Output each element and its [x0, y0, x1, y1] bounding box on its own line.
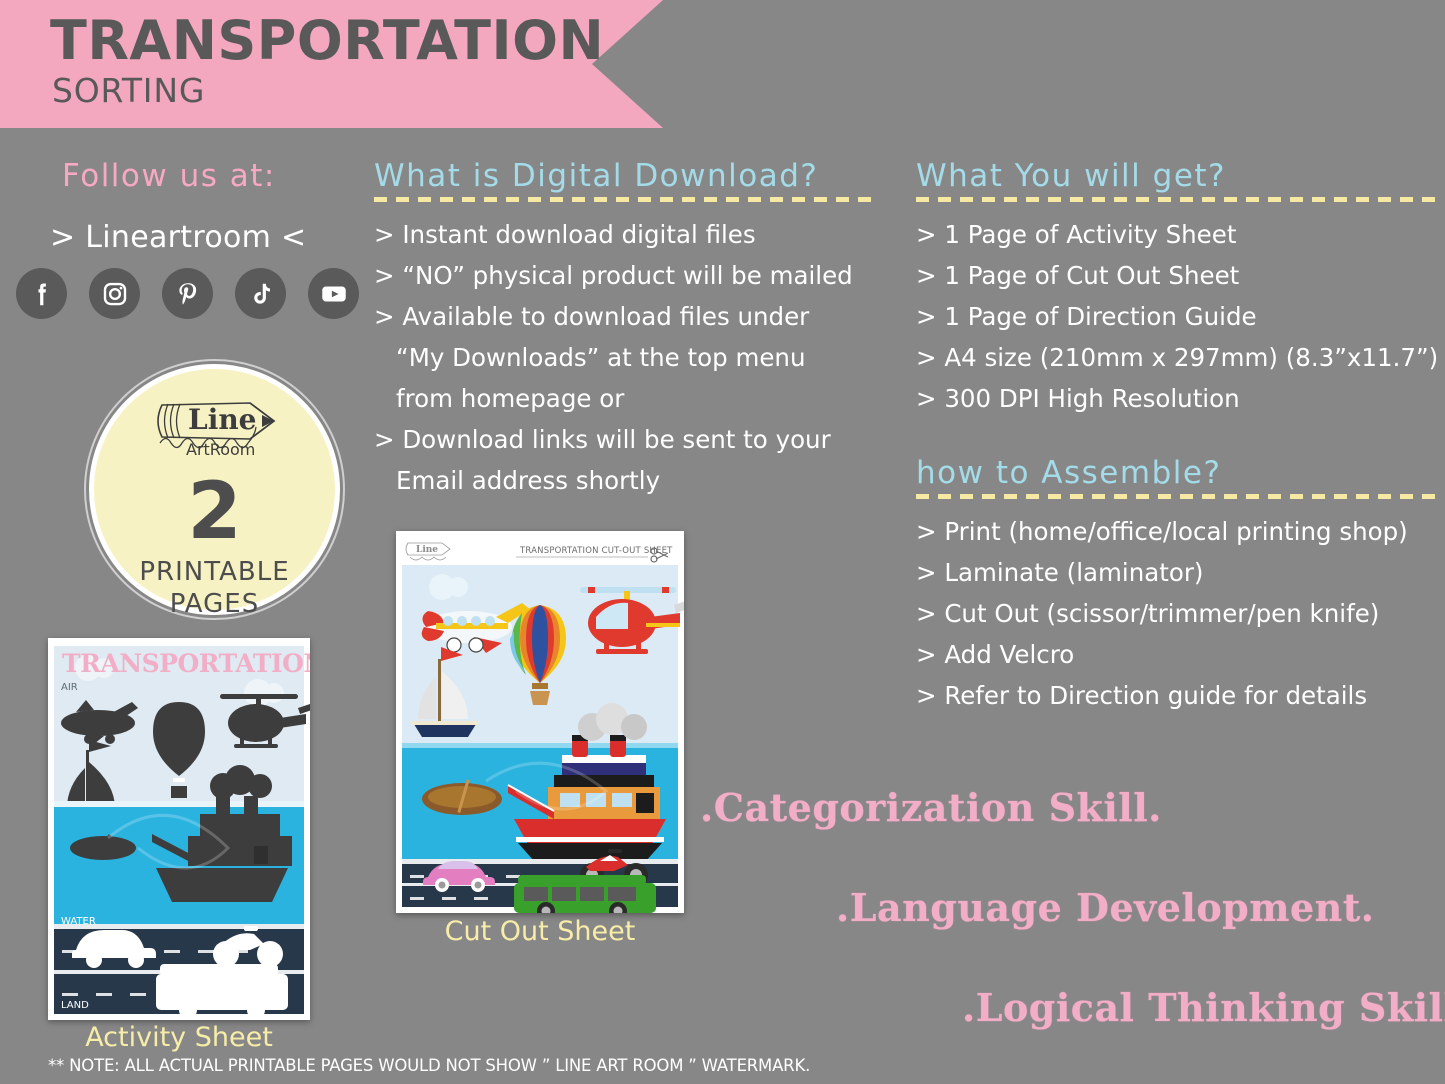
- list-item: > 1 Page of Activity Sheet: [916, 214, 1441, 255]
- badge-page-count: 2: [94, 473, 335, 551]
- what-you-get-section: What You will get? > 1 Page of Activity …: [916, 158, 1441, 419]
- list-item: > 1 Page of Cut Out Sheet: [916, 255, 1441, 296]
- what-you-get-list: > 1 Page of Activity Sheet> 1 Page of Cu…: [916, 214, 1441, 419]
- shop-handle: > Lineartroom <: [50, 220, 306, 255]
- follow-heading: Follow us at:: [62, 158, 276, 194]
- tiktok-icon[interactable]: [235, 268, 286, 319]
- what-you-get-heading: What You will get?: [916, 158, 1441, 194]
- badge-line-2: PAGES: [94, 591, 335, 617]
- poster-canvas: TRANSPORTATION SORTING Follow us at: > L…: [0, 0, 1445, 1084]
- how-to-assemble-section: how to Assemble? > Print (home/office/lo…: [916, 455, 1441, 716]
- list-item: > Add Velcro: [916, 634, 1441, 675]
- activity-sheet-preview[interactable]: TRANSPORTATION AIR: [48, 638, 310, 1020]
- svg-text:LAND: LAND: [61, 1000, 89, 1011]
- skill-line-1: .Categorization Skill.: [700, 785, 1162, 830]
- list-item: > Refer to Direction guide for details: [916, 675, 1441, 716]
- pinterest-icon[interactable]: [162, 268, 213, 319]
- skill-line-2: .Language Development.: [836, 885, 1375, 930]
- watermark-note: ** NOTE: ALL ACTUAL PRINTABLE PAGES WOUL…: [48, 1056, 810, 1075]
- badge-line-1: PRINTABLE: [94, 559, 335, 585]
- list-item: > A4 size (210mm x 297mm) (8.3”x11.7”): [916, 337, 1441, 378]
- facebook-icon[interactable]: [16, 268, 67, 319]
- svg-text:TRANSPORTATION: TRANSPORTATION: [62, 649, 310, 678]
- heading-underline: [374, 197, 874, 202]
- svg-text:Line: Line: [188, 403, 257, 436]
- list-item: > 300 DPI High Resolution: [916, 378, 1441, 419]
- heading-underline: [916, 197, 1441, 202]
- instagram-icon[interactable]: [89, 268, 140, 319]
- list-item: from homepage or: [374, 378, 874, 419]
- activity-sheet-caption: Activity Sheet: [48, 1022, 310, 1053]
- digital-download-heading: What is Digital Download?: [374, 158, 874, 194]
- list-item: > Print (home/office/local printing shop…: [916, 511, 1441, 552]
- list-item: > Available to download files under: [374, 296, 874, 337]
- svg-text:ArtRoom: ArtRoom: [186, 440, 255, 459]
- printable-pages-badge: Line ArtRoom 2 PRINTABLE PAGES: [89, 364, 340, 615]
- list-item: > 1 Page of Direction Guide: [916, 296, 1441, 337]
- cutout-sheet-preview[interactable]: TRANSPORTATION CUT-OUT SHEET Line: [396, 531, 684, 913]
- list-item: > “NO” physical product will be mailed: [374, 255, 874, 296]
- list-item: > Instant download digital files: [374, 214, 874, 255]
- list-item: Email address shortly: [374, 460, 874, 501]
- list-item: “My Downloads” at the top menu: [374, 337, 874, 378]
- cutout-sheet-caption: Cut Out Sheet: [396, 916, 684, 947]
- list-item: > Download links will be sent to your: [374, 419, 874, 460]
- how-to-assemble-list: > Print (home/office/local printing shop…: [916, 511, 1441, 716]
- skill-line-3: .Logical Thinking Skill.: [962, 985, 1445, 1030]
- svg-text:AIR: AIR: [61, 682, 78, 693]
- page-title: TRANSPORTATION: [50, 14, 604, 68]
- digital-download-section: What is Digital Download? > Instant down…: [374, 158, 874, 501]
- svg-text:TRANSPORTATION CUT-OUT SHEET: TRANSPORTATION CUT-OUT SHEET: [519, 546, 673, 556]
- digital-download-list: > Instant download digital files> “NO” p…: [374, 214, 874, 501]
- list-item: > Cut Out (scissor/trimmer/pen knife): [916, 593, 1441, 634]
- heading-underline: [916, 494, 1441, 499]
- how-to-assemble-heading: how to Assemble?: [916, 455, 1441, 491]
- page-subtitle: SORTING: [52, 74, 205, 107]
- social-links: [16, 268, 359, 319]
- list-item: > Laminate (laminator): [916, 552, 1441, 593]
- youtube-icon[interactable]: [308, 268, 359, 319]
- svg-text:Line: Line: [416, 545, 438, 555]
